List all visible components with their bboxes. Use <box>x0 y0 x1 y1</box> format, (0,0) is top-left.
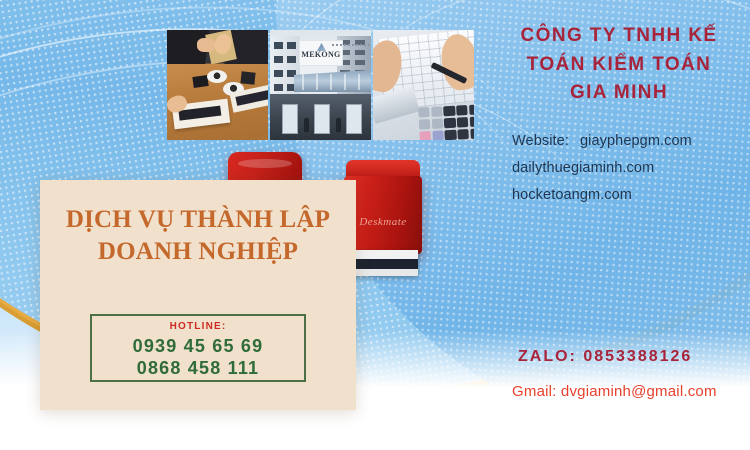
hotline-box: HOTLINE: 0939 45 65 69 0868 458 111 <box>90 314 306 382</box>
building-sign-text: MEKONG <box>300 50 342 59</box>
ink-pad-1 <box>207 70 227 83</box>
pedestrian-1 <box>304 118 309 132</box>
company-name: CÔNG TY TNHH KẾ TOÁN KIỂM TOÁN GIA MINH <box>488 22 750 108</box>
website-row-1: Website:giayphepgm.com <box>512 128 692 155</box>
company-name-line-1: CÔNG TY TNHH KẾ <box>488 22 750 51</box>
website-url-1[interactable]: giayphepgm.com <box>580 133 692 149</box>
zalo-contact[interactable]: ZALO: 0853388126 <box>518 348 692 366</box>
hotline-number-2[interactable]: 0868 458 111 <box>92 358 304 379</box>
calculator-spreadsheet-photo <box>373 30 474 140</box>
gmail-contact[interactable]: Gmail: dvgiaminh@gmail.com <box>512 383 717 400</box>
entrance-door-center <box>314 104 330 134</box>
mekong-building-photo: MEKONG <box>270 30 371 140</box>
website-block: Website:giayphepgm.com dailythuegiaminh.… <box>512 128 692 209</box>
building-canopy <box>294 70 371 92</box>
hand-left <box>197 38 215 52</box>
service-title-line-2: DOANH NGHIỆP <box>40 236 356 268</box>
stamp-block-2 <box>240 71 255 84</box>
service-card-title: DỊCH VỤ THÀNH LẬP DOANH NGHIỆP <box>40 204 356 268</box>
company-name-line-2: TOÁN KIỂM TOÁN <box>488 51 750 80</box>
website-url-3[interactable]: hocketoangm.com <box>512 187 632 203</box>
building-signboard: MEKONG <box>299 40 343 66</box>
stamp-plate <box>348 250 418 276</box>
hotline-label: HOTLINE: <box>92 321 304 332</box>
business-card-banner: MEKONG <box>0 0 750 450</box>
pedestrian-2 <box>336 118 341 132</box>
service-title-line-1: DỊCH VỤ THÀNH LẬP <box>40 204 356 236</box>
website-url-2[interactable]: dailythuegiaminh.com <box>512 160 654 176</box>
calculator-keys <box>418 104 474 140</box>
company-name-line-3: GIA MINH <box>488 79 750 108</box>
website-row-2: dailythuegiaminh.com <box>512 155 692 182</box>
hotline-number-1[interactable]: 0939 45 65 69 <box>92 336 304 357</box>
photo-strip: MEKONG <box>167 30 474 140</box>
website-label: Website: <box>512 128 580 155</box>
office-stamps-photo <box>167 30 268 140</box>
sign-micro-text <box>332 44 370 46</box>
service-card: DỊCH VỤ THÀNH LẬP DOANH NGHIỆP HOTLINE: … <box>40 180 356 410</box>
entrance-door-right <box>346 104 362 134</box>
building-ground-floor <box>270 94 371 140</box>
entrance-door-left <box>282 104 298 134</box>
website-row-3: hocketoangm.com <box>512 182 692 209</box>
